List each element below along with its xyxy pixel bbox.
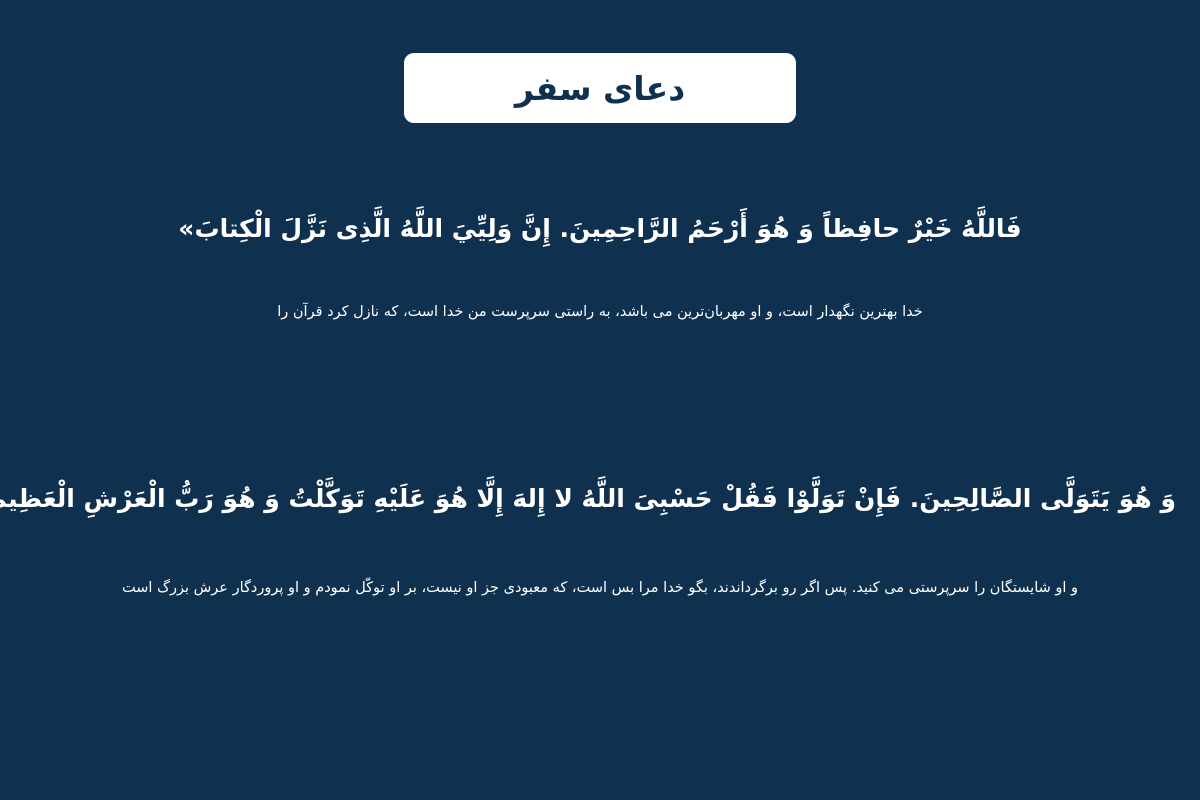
- page-title: دعای سفر: [515, 72, 685, 105]
- verse-arabic-2: وَ هُوَ يَتَوَلَّى الصَّالِحِينَ. فَإِنْ…: [24, 480, 1176, 519]
- verse-translation-1: خدا بهترین نگهدار است، و او مهربان‌ترین …: [24, 301, 1176, 324]
- title-plate-container: دعای سفر: [0, 53, 1200, 123]
- verse-block-1: فَاللَّهُ خَيْرٌ حافِظاً وَ هُوَ أَرْحَم…: [0, 210, 1200, 324]
- verse-block-2: وَ هُوَ يَتَوَلَّى الصَّالِحِينَ. فَإِنْ…: [0, 480, 1200, 600]
- verse-translation-2: و او شایستگان را سرپرستی می کنید. پس اگر…: [24, 577, 1176, 600]
- verses-container: فَاللَّهُ خَيْرٌ حافِظاً وَ هُوَ أَرْحَم…: [0, 150, 1200, 800]
- page-root: دعای سفر فَاللَّهُ خَيْرٌ حافِظاً وَ هُو…: [0, 0, 1200, 800]
- title-plate: دعای سفر: [404, 53, 796, 123]
- verse-arabic-1: فَاللَّهُ خَيْرٌ حافِظاً وَ هُوَ أَرْحَم…: [24, 210, 1176, 249]
